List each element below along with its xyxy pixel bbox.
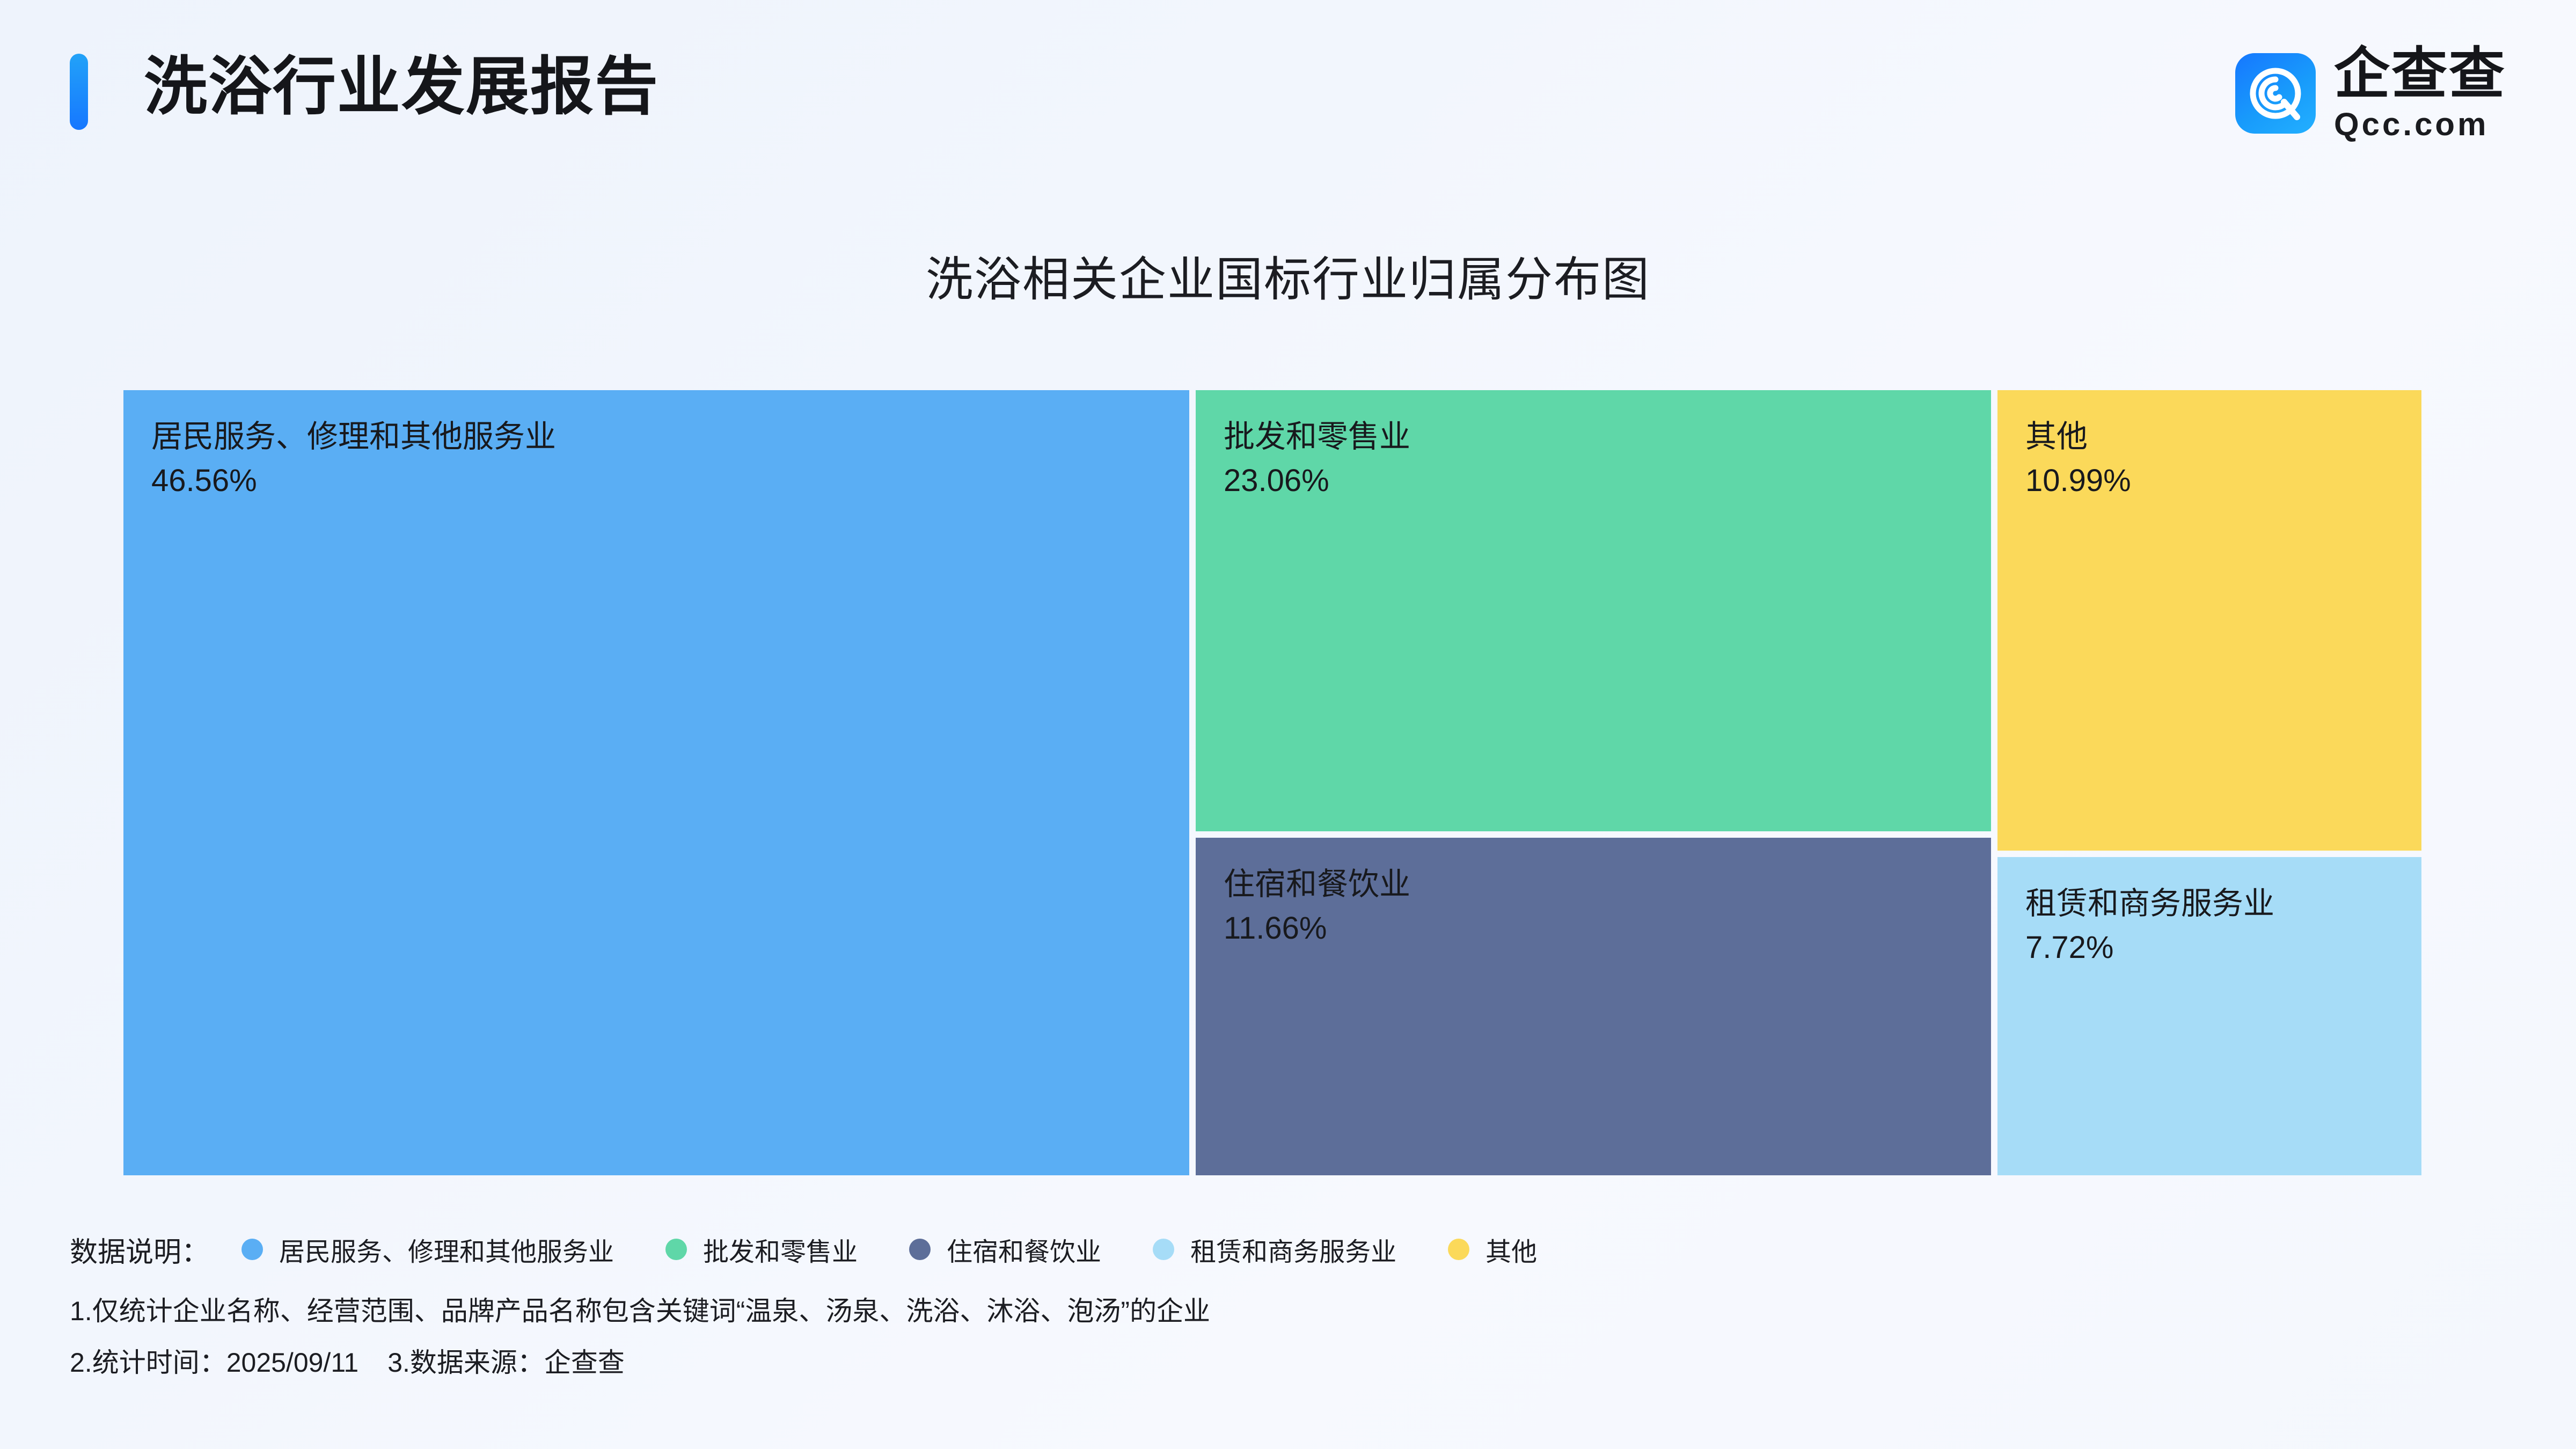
brand-text: 企查查 Qcc.com: [2334, 46, 2506, 141]
footnote-date-source: 2.统计时间：2025/09/113.数据来源：企查查: [70, 1349, 2506, 1376]
brand-logo: 企查查 Qcc.com: [2235, 46, 2506, 141]
treemap-tile[interactable]: 其他 10.99%: [1997, 390, 2421, 851]
treemap-tile-label: 批发和零售业: [1224, 415, 1963, 459]
legend-item[interactable]: 住宿和餐饮业: [909, 1231, 1101, 1268]
treemap-tile-value: 46.56%: [151, 459, 1161, 503]
treemap-tile[interactable]: 租赁和商务服务业 7.72%: [1997, 857, 2421, 1175]
legend-item[interactable]: 其他: [1448, 1231, 1537, 1268]
legend-color-dot: [665, 1239, 687, 1260]
brand-name-en: Qcc.com: [2334, 108, 2506, 141]
legend-item-label: 居民服务、修理和其他服务业: [279, 1231, 614, 1268]
page-title: 洗浴行业发展报告: [144, 50, 659, 125]
legend-color-dot: [241, 1239, 263, 1260]
chart-legend: 数据说明： 居民服务、修理和其他服务业 批发和零售业 住宿和餐饮业 租赁和商务服…: [70, 1228, 1537, 1271]
treemap-tile-label: 其他: [2025, 415, 2394, 459]
treemap-tile-label: 住宿和餐饮业: [1224, 862, 1963, 906]
legend-caption: 数据说明：: [70, 1230, 209, 1270]
legend-item-label: 租赁和商务服务业: [1190, 1231, 1396, 1268]
title-accent-bar: [70, 54, 88, 130]
treemap-tile-value: 11.66%: [1224, 906, 1963, 950]
legend-color-dot: [1153, 1239, 1174, 1260]
legend-item-label: 住宿和餐饮业: [947, 1231, 1101, 1268]
treemap-tile[interactable]: 住宿和餐饮业 11.66%: [1196, 838, 1991, 1175]
footnote-methodology: 1.仅统计企业名称、经营范围、品牌产品名称包含关键词“温泉、汤泉、洗浴、沐浴、泡…: [70, 1298, 2506, 1324]
legend-item-label: 批发和零售业: [703, 1231, 858, 1268]
footnotes: 1.仅统计企业名称、经营范围、品牌产品名称包含关键词“温泉、汤泉、洗浴、沐浴、泡…: [70, 1298, 2506, 1376]
treemap-tile[interactable]: 批发和零售业 23.06%: [1196, 390, 1991, 831]
legend-color-dot: [909, 1239, 931, 1260]
footnote-source: 3.数据来源：企查查: [387, 1348, 625, 1378]
chart-title: 洗浴相关企业国标行业归属分布图: [0, 241, 2576, 310]
report-page: 洗浴行业发展报告 企查查 Qcc.com 洗浴相关企业国标行业归属分布图: [0, 0, 2576, 1449]
treemap-tile[interactable]: 居民服务、修理和其他服务业 46.56%: [123, 390, 1189, 1175]
legend-item[interactable]: 批发和零售业: [665, 1231, 858, 1268]
treemap-tile-label: 居民服务、修理和其他服务业: [151, 415, 1161, 459]
legend-item-label: 其他: [1485, 1231, 1537, 1268]
legend-item[interactable]: 居民服务、修理和其他服务业: [241, 1231, 614, 1268]
legend-color-dot: [1448, 1239, 1469, 1260]
treemap-tile-value: 23.06%: [1224, 459, 1963, 503]
treemap-tile-label: 租赁和商务服务业: [2025, 882, 2394, 926]
brand-name-cn: 企查查: [2334, 46, 2506, 102]
treemap-tile-value: 10.99%: [2025, 459, 2394, 503]
page-header: 洗浴行业发展报告 企查查 Qcc.com: [0, 0, 2576, 193]
treemap-chart: 居民服务、修理和其他服务业 46.56% 批发和零售业 23.06% 住宿和餐饮…: [123, 390, 2421, 1175]
legend-item[interactable]: 租赁和商务服务业: [1153, 1231, 1396, 1268]
qcc-target-logo-icon: [2235, 53, 2316, 134]
footnote-date: 2.统计时间：2025/09/11: [70, 1348, 358, 1378]
treemap-tile-value: 7.72%: [2025, 926, 2394, 970]
